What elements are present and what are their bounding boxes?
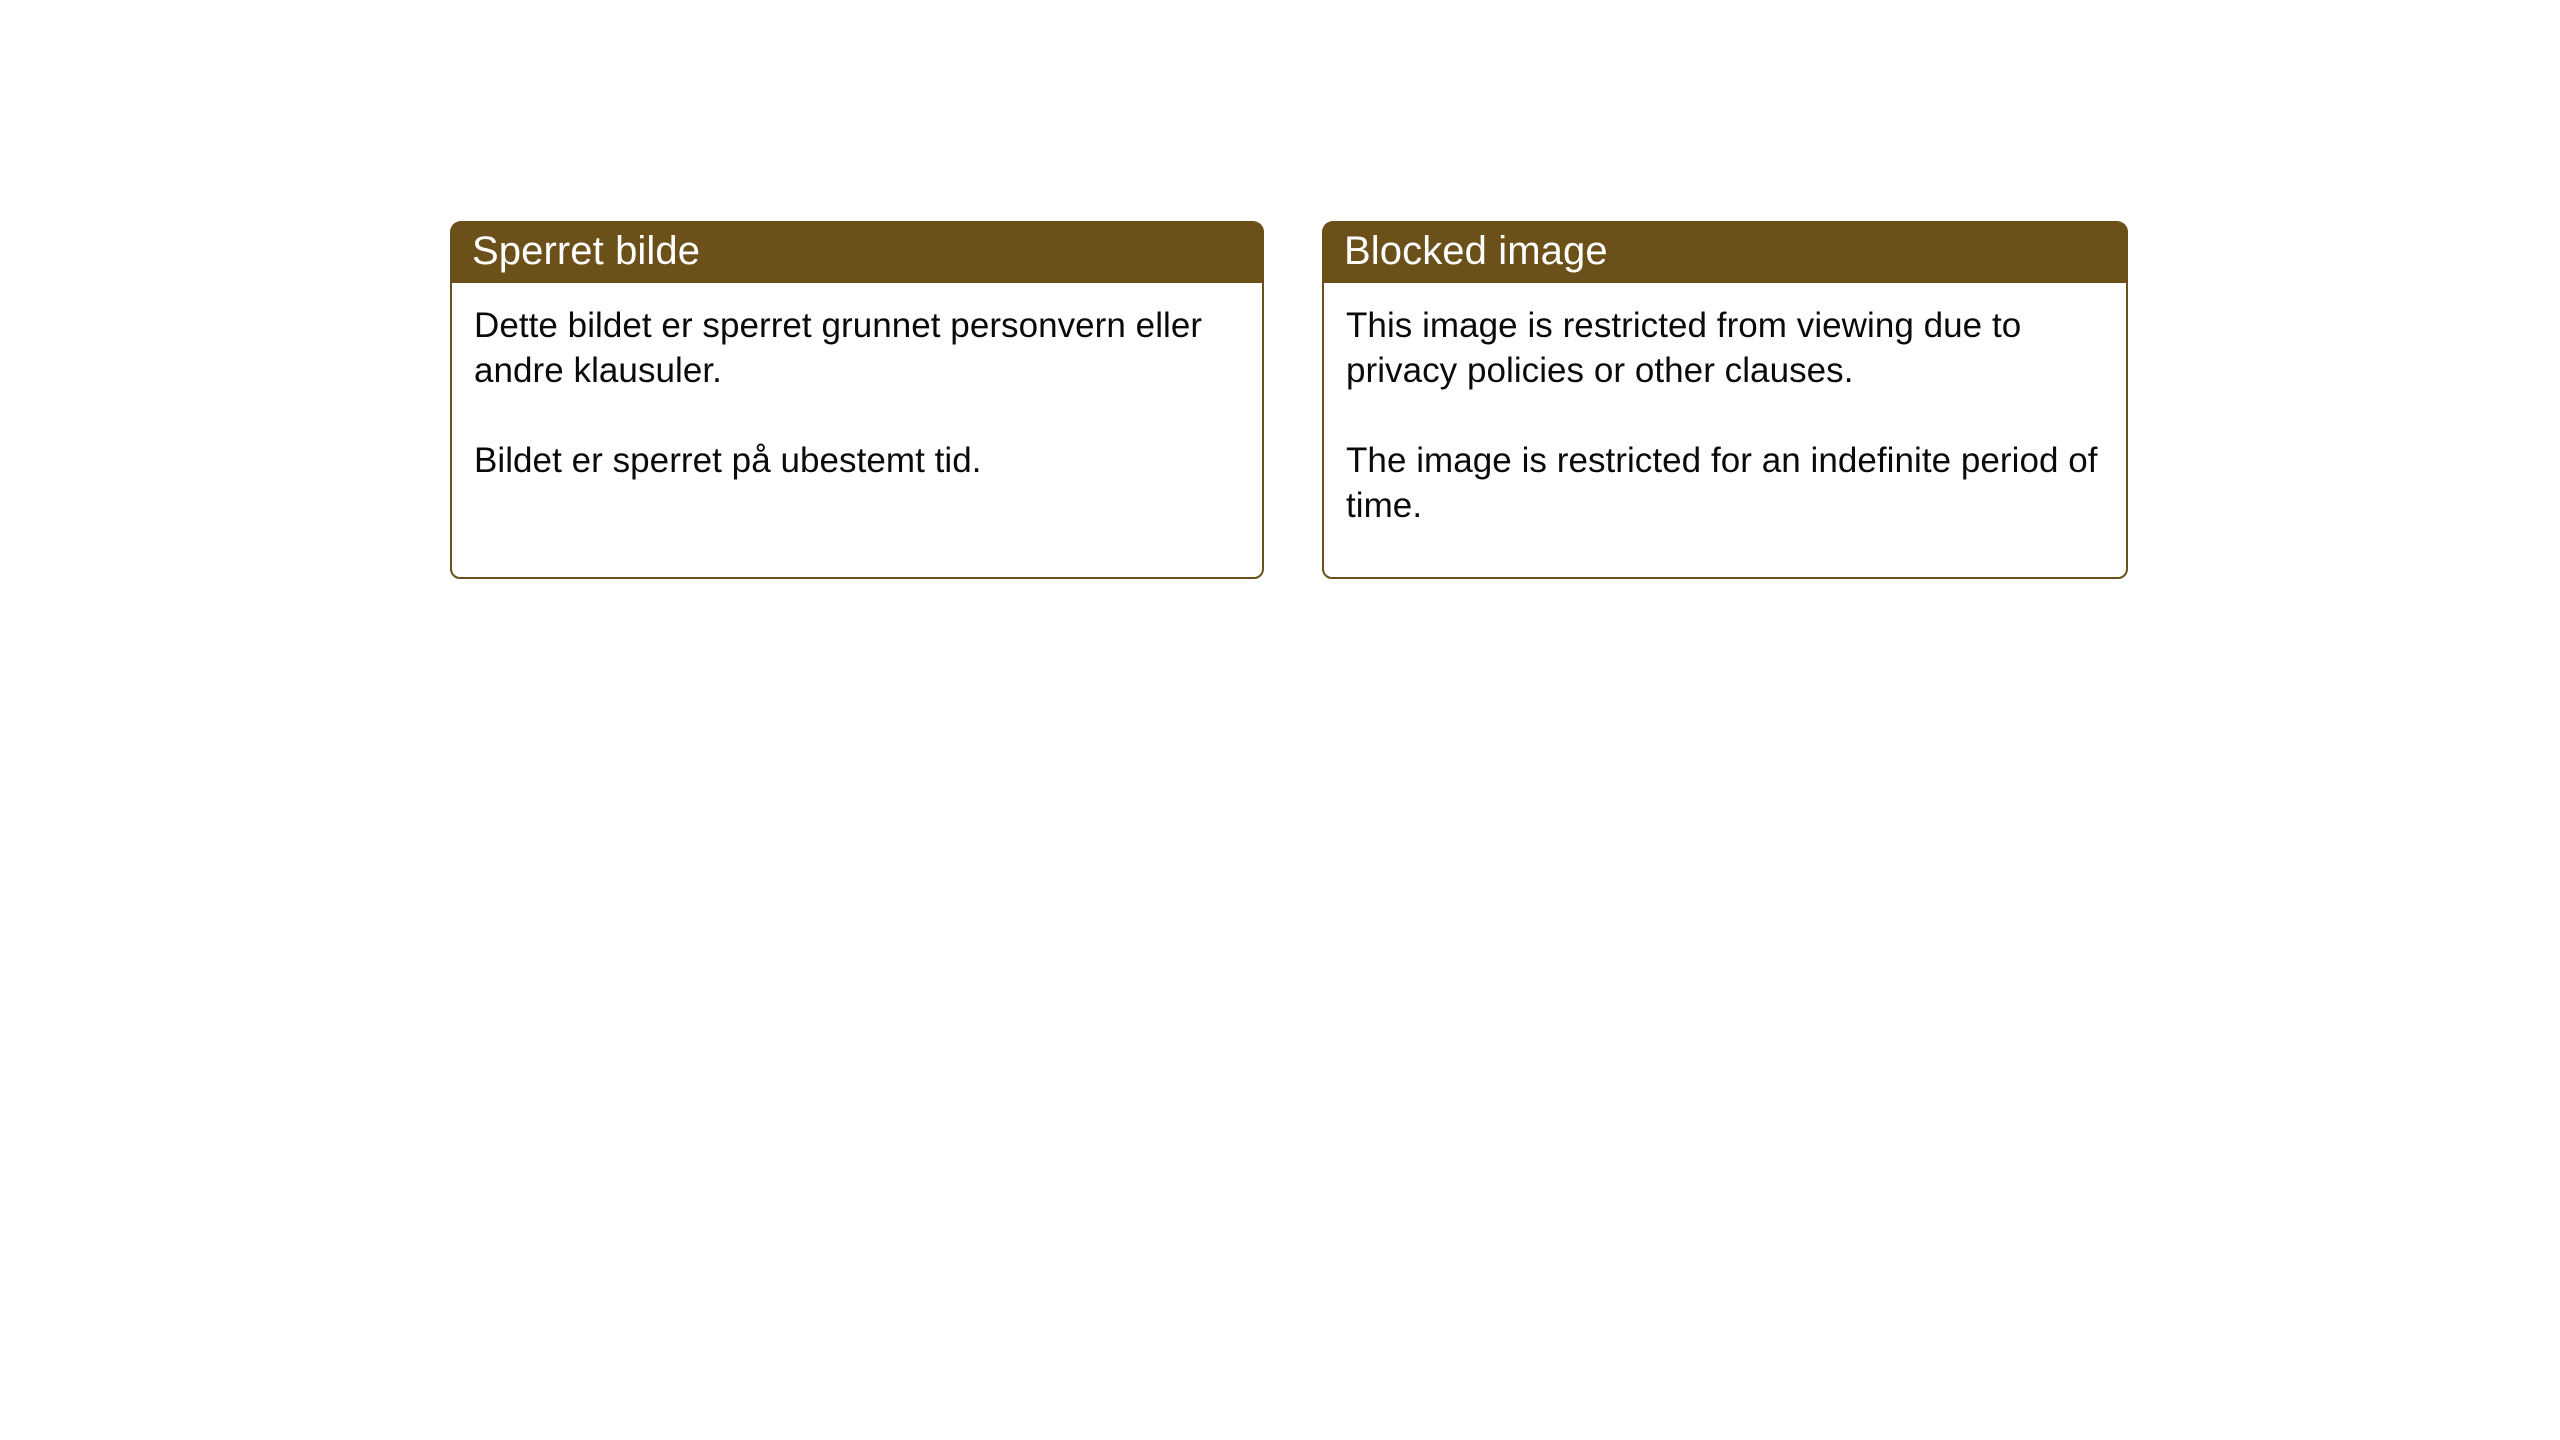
notice-paragraph-reason-en: This image is restricted from viewing du… (1346, 303, 2102, 393)
notice-paragraph-reason-no: Dette bildet er sperret grunnet personve… (474, 303, 1238, 393)
card-header-no: Sperret bilde (450, 221, 1264, 283)
blocked-image-notice-card-en: Blocked image This image is restricted f… (1322, 221, 2128, 579)
card-title-en: Blocked image (1344, 231, 1608, 271)
card-header-en: Blocked image (1322, 221, 2128, 283)
blocked-image-notice-card-no: Sperret bilde Dette bildet er sperret gr… (450, 221, 1264, 579)
notice-paragraph-duration-no: Bildet er sperret på ubestemt tid. (474, 438, 1238, 483)
card-title-no: Sperret bilde (472, 231, 700, 271)
card-body-no: Dette bildet er sperret grunnet personve… (450, 283, 1264, 579)
card-body-en: This image is restricted from viewing du… (1322, 283, 2128, 579)
notice-paragraph-duration-en: The image is restricted for an indefinit… (1346, 438, 2102, 528)
notice-stage: Sperret bilde Dette bildet er sperret gr… (0, 0, 2560, 1440)
